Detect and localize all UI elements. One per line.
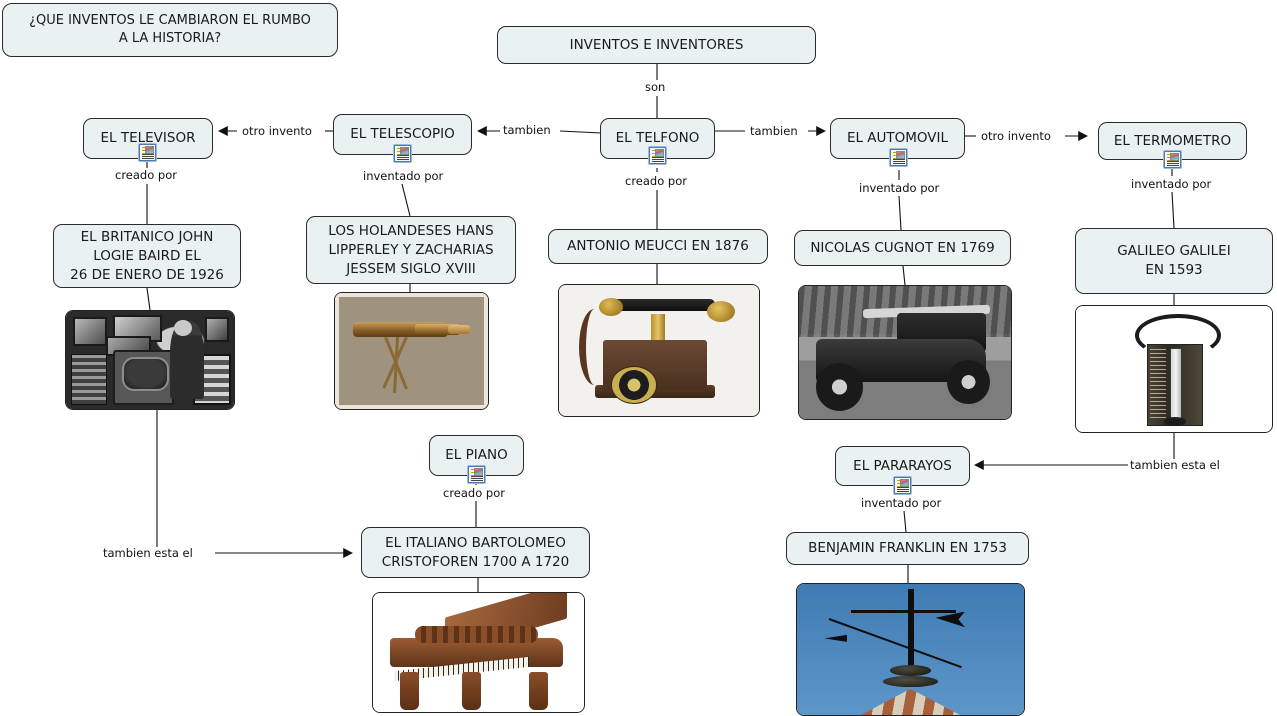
link-label-tambien-esta-el-pararayos: tambien esta el <box>1128 459 1222 472</box>
doc-thumb-icon <box>474 468 483 476</box>
link-label-son: son <box>643 81 667 94</box>
photo-piano[interactable] <box>372 592 585 713</box>
question-title-box: ¿QUE INVENTOS LE CAMBIARON EL RUMBO A LA… <box>2 3 338 57</box>
photo-pararayos[interactable] <box>796 583 1025 716</box>
link-label-inventado-por-telescopio: inventado por <box>361 170 445 183</box>
photo-telefono[interactable] <box>558 284 760 417</box>
detail-pararayos-inventor[interactable]: BENJAMIN FRANKLIN EN 1753 <box>786 532 1029 565</box>
photo-piano-image <box>373 593 584 712</box>
doc-bars-icon <box>142 154 154 159</box>
doc-thumb-icon <box>655 149 664 157</box>
photo-televisor-image <box>66 311 234 409</box>
link-label-tambien-right: tambien <box>748 125 800 138</box>
doc-bars-icon <box>897 487 909 492</box>
doc-bars-icon <box>652 157 664 162</box>
document-image-icon-termometro[interactable] <box>1164 151 1181 168</box>
doc-thumb-icon <box>400 147 409 155</box>
doc-thumb-icon <box>145 146 154 154</box>
document-image-icon-automovil[interactable] <box>890 149 907 166</box>
photo-telescopio[interactable] <box>334 292 489 410</box>
doc-bars-icon <box>893 159 905 164</box>
link-label-creado-por-televisor: creado por <box>113 169 179 182</box>
document-image-icon-pararayos[interactable] <box>894 477 911 494</box>
document-image-icon-telescopio[interactable] <box>394 145 411 162</box>
link-label-tambien-left: tambien <box>501 124 553 137</box>
link-label-otro-invento-left: otro invento <box>240 125 314 138</box>
document-image-icon-piano[interactable] <box>468 466 485 483</box>
detail-telescopio-inventor[interactable]: LOS HOLANDESES HANS LIPPERLEY Y ZACHARIA… <box>306 216 516 284</box>
photo-pararayos-image <box>797 584 1024 715</box>
detail-automovil-inventor[interactable]: NICOLAS CUGNOT EN 1769 <box>794 230 1011 266</box>
doc-thumb-icon <box>1170 153 1179 161</box>
doc-thumb-icon <box>896 151 905 159</box>
photo-automovil-image <box>799 286 1011 419</box>
detail-televisor-inventor[interactable]: EL BRITANICO JOHN LOGIE BAIRD EL 26 DE E… <box>53 224 241 288</box>
detail-termometro-inventor[interactable]: GALILEO GALILEI EN 1593 <box>1075 228 1273 294</box>
doc-thumb-icon <box>900 479 909 487</box>
photo-automovil[interactable] <box>798 285 1012 420</box>
link-label-inventado-por-automovil: inventado por <box>857 182 941 195</box>
document-image-icon-televisor[interactable] <box>139 144 156 161</box>
doc-bars-icon <box>471 476 483 481</box>
photo-telescopio-image <box>335 293 488 409</box>
photo-termometro-image <box>1076 306 1272 432</box>
document-image-icon-telefono[interactable] <box>649 147 666 164</box>
doc-bars-icon <box>397 155 409 160</box>
link-label-inventado-por-termometro: inventado por <box>1129 178 1213 191</box>
link-label-tambien-esta-el-piano: tambien esta el <box>101 547 195 560</box>
doc-bars-icon <box>1167 161 1179 166</box>
photo-televisor[interactable] <box>65 310 235 410</box>
link-label-inventado-por-pararayos: inventado por <box>859 497 943 510</box>
detail-piano-inventor[interactable]: EL ITALIANO BARTOLOMEO CRISTOFOREN 1700 … <box>361 527 590 578</box>
link-label-creado-por-piano: creado por <box>441 487 507 500</box>
node-inventos-e-inventores[interactable]: INVENTOS E INVENTORES <box>497 26 816 64</box>
concept-map-canvas: ¿QUE INVENTOS LE CAMBIARON EL RUMBO A LA… <box>0 0 1277 716</box>
link-label-otro-invento-right: otro invento <box>979 130 1053 143</box>
detail-telefono-inventor[interactable]: ANTONIO MEUCCI EN 1876 <box>548 229 768 264</box>
photo-termometro[interactable] <box>1075 305 1273 433</box>
photo-telefono-image <box>559 285 759 416</box>
link-label-creado-por-telefono: creado por <box>623 175 689 188</box>
